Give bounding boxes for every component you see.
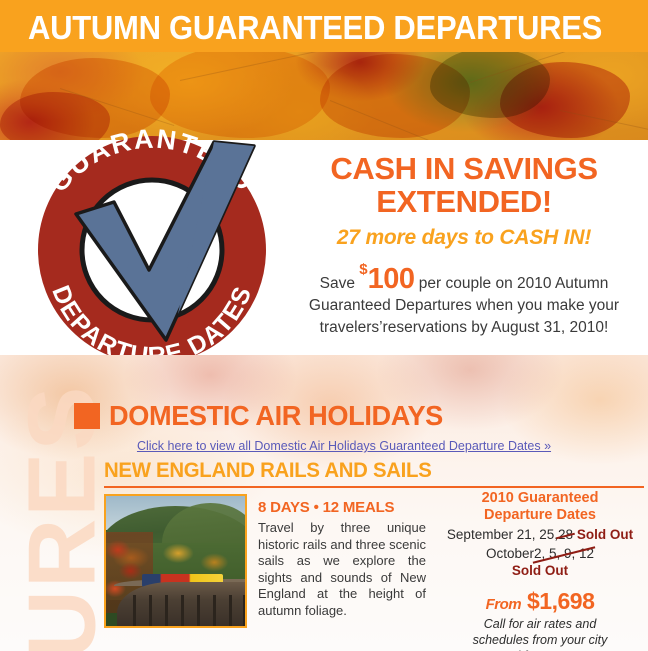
promo-body-text: Save $100 per couple on 2010 Autumn Guar… bbox=[288, 259, 640, 339]
air-rates-note-line2: schedules from your city bbox=[436, 632, 644, 648]
october-sold-out-badge: Sold Out bbox=[436, 562, 644, 579]
autumn-leaves-banner-image bbox=[0, 52, 648, 140]
october-dates-row: October2, 5, 9, 12 bbox=[436, 545, 644, 562]
discount-amount: 100 bbox=[368, 263, 415, 295]
section-bullet-square-icon bbox=[74, 403, 100, 429]
tour-days-meals: 8 DAYS • 12 MEALS bbox=[258, 499, 426, 516]
tour-price: $1,698 bbox=[527, 588, 594, 614]
promo-body-pre: Save bbox=[320, 275, 360, 292]
promo-headline-line1: CASH IN SAVINGS bbox=[288, 152, 640, 185]
september-sold-out-badge: Sold Out bbox=[577, 527, 633, 542]
promo-block: CASH IN SAVINGS EXTENDED! 27 more days t… bbox=[288, 152, 640, 339]
tour-description: Travel by three unique historic rails an… bbox=[258, 520, 426, 619]
section-header-domestic-air-holidays: DOMESTIC AIR HOLIDAYS bbox=[74, 400, 453, 432]
october-soldout-dates: 2, 5, 9, 12 bbox=[534, 545, 594, 562]
from-label: From bbox=[486, 596, 522, 613]
page-title: AUTUMN GUARANTEED DEPARTURES bbox=[28, 9, 602, 47]
promo-headline-line2: EXTENDED! bbox=[288, 185, 640, 218]
guaranteed-departure-dates-seal-icon: GUARANTEED DEPARTURE DATES bbox=[18, 128, 286, 360]
section-title: DOMESTIC AIR HOLIDAYS bbox=[109, 400, 443, 432]
dates-heading-line1: 2010 Guaranteed bbox=[436, 490, 644, 507]
september-soldout-date: 28 bbox=[558, 526, 573, 543]
october-label: October bbox=[486, 546, 534, 561]
email-newsletter-page: AUTUMN GUARANTEED DEPARTURES bbox=[0, 0, 648, 651]
departure-dates-panel: 2010 Guaranteed Departure Dates Septembe… bbox=[436, 490, 644, 651]
promo-subheadline: 27 more days to CASH IN! bbox=[288, 226, 640, 250]
view-all-departure-dates-link[interactable]: Click here to view all Domestic Air Holi… bbox=[137, 439, 551, 453]
tour-details: 8 DAYS • 12 MEALS Travel by three unique… bbox=[258, 499, 426, 619]
price-row: From $1,698 bbox=[436, 588, 644, 615]
tour-photo bbox=[104, 494, 247, 628]
september-available-dates: 21, 25, bbox=[517, 527, 558, 542]
section-link-wrapper: Click here to view all Domestic Air Holi… bbox=[0, 437, 648, 455]
air-rates-note: Call for air rates and schedules from yo… bbox=[436, 616, 644, 651]
tour-divider bbox=[104, 486, 644, 488]
september-label: September bbox=[447, 527, 513, 542]
dates-heading-line2: Departure Dates bbox=[436, 507, 644, 524]
photo-trestle-bridge bbox=[117, 582, 247, 626]
tour-title: NEW ENGLAND RAILS AND SAILS bbox=[104, 459, 431, 483]
page-header-bar: AUTUMN GUARANTEED DEPARTURES bbox=[0, 0, 648, 52]
currency-symbol: $ bbox=[359, 261, 367, 278]
september-dates-row: September 21, 25,28 Sold Out bbox=[436, 526, 644, 543]
air-rates-note-line1: Call for air rates and bbox=[436, 616, 644, 632]
